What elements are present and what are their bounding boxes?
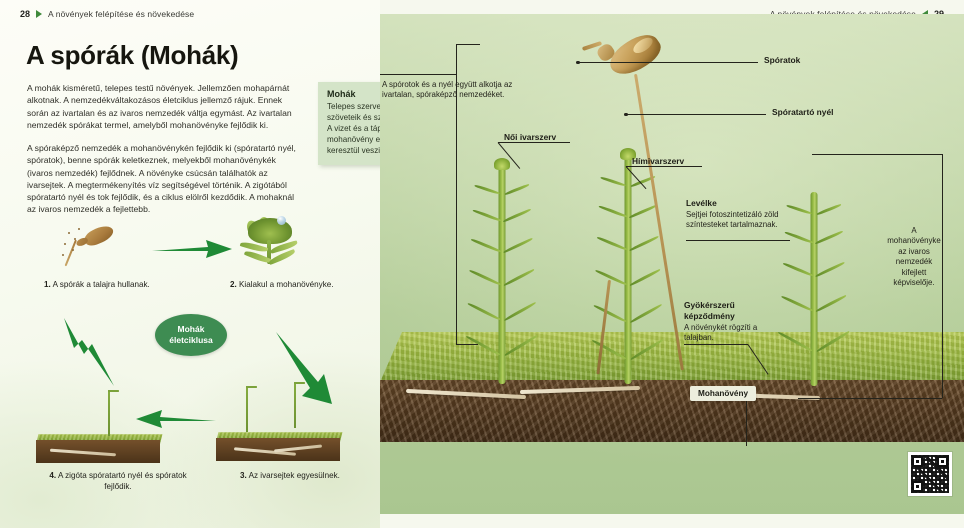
stem-shape — [499, 166, 506, 384]
lifecycle-caption-4: 4. A zigóta spóratartó nyél és spóratok … — [38, 470, 198, 492]
running-head-left: A növények felépítése és növekedése — [48, 9, 194, 19]
lifecycle-caption-3: 3. Az ivarsejtek egyesülnek. — [240, 470, 340, 481]
leaf-shape — [816, 204, 841, 216]
leader-dot — [624, 113, 628, 117]
callout-gyokerszeru-body: A növénykét rögzíti a talajban. — [684, 323, 780, 343]
moss-plant-sporophyte-bearing — [784, 190, 844, 386]
lifecycle-arrow-3-to-4 — [136, 408, 218, 430]
right-bracket-top — [812, 154, 942, 155]
moss-plant-shape — [108, 390, 110, 436]
page-title: A spórák (Mohák) — [26, 40, 238, 71]
leaf-shape — [473, 208, 502, 222]
leaf-shape — [503, 269, 535, 287]
seta-stalk-shape — [634, 74, 684, 371]
lifecycle-arrow-4-to-1 — [62, 316, 118, 392]
badge-line-2: életciklusa — [169, 335, 212, 346]
body-paragraph-2: A spóraképző nemzedék a mohanövénykén fe… — [27, 142, 299, 216]
leaf-shape — [471, 238, 501, 254]
lifecycle-caption-2-text: Kialakul a mohanövényke. — [239, 280, 334, 289]
water-droplet-shape — [277, 216, 286, 225]
leader-line — [456, 344, 478, 345]
leaf-shape — [781, 295, 813, 313]
qr-finder-top-left — [912, 456, 923, 467]
leader-line-seta — [626, 114, 766, 115]
callout-noi-ivarszerv: Női ivarszerv — [504, 132, 556, 142]
lifecycle-center-badge: Mohák életciklusa — [155, 314, 227, 356]
lifecycle-caption-3-number: 3. — [240, 471, 247, 480]
leaf-shape — [785, 230, 814, 244]
lifecycle-stage-3-illustration — [216, 428, 340, 464]
lifecycle-stage-2-illustration — [236, 218, 316, 274]
qr-finder-top-right — [937, 456, 948, 467]
lifecycle-caption-2-number: 2. — [230, 280, 237, 289]
callout-right-note: A mohanövényke az ivaros nemzedék kifejl… — [885, 226, 943, 288]
moss-plant-shape — [246, 386, 248, 432]
lifecycle-caption-4-text: A zigóta spóratartó nyél és spóratok fej… — [58, 471, 187, 491]
lifecycle-stage-1-illustration — [52, 226, 142, 274]
leaf-shape — [503, 208, 532, 222]
leader-line-levelke — [686, 240, 790, 241]
moss-plant-shape — [294, 382, 296, 428]
ground-block — [380, 332, 964, 468]
right-bracket-bottom — [798, 398, 942, 399]
textbook-spread: 28 A növények felépítése és növekedése A… — [0, 0, 964, 528]
spore-dot — [64, 243, 66, 245]
main-illustration: A spórotok és a nyél együtt alkotja az i… — [380, 14, 964, 514]
callout-sporatok: Spóratok — [764, 55, 800, 65]
callout-levelke-title: Levélke — [686, 198, 717, 208]
leaf-shape — [474, 184, 499, 196]
spore-capsule-shape — [82, 223, 116, 249]
callout-sporatarto-nyel: Spóratartó nyél — [772, 107, 833, 117]
spore-dot — [68, 232, 70, 234]
leaf-shape — [469, 269, 501, 287]
callout-gyokerszeru-title-1: Gyökérszerű — [684, 300, 735, 310]
lifecycle-caption-1: 1. A spórák a talajra hullanak. — [44, 279, 150, 290]
leader-line-mohanoveny — [746, 398, 747, 446]
archegonium-shape — [494, 158, 510, 170]
seta-shape — [65, 240, 77, 267]
page-number-left: 28 — [20, 9, 30, 19]
lifecycle-caption-1-number: 1. — [44, 280, 51, 289]
leader-dot — [576, 61, 580, 65]
callout-gyokerszeru-title-2: képződmény — [684, 311, 735, 321]
triangle-right-icon — [36, 10, 42, 18]
callout-mohanoveny-tag: Mohanövény — [690, 386, 756, 401]
qr-finder-bottom-left — [912, 481, 923, 492]
leader-line — [380, 74, 457, 75]
leaf-shape — [815, 230, 844, 244]
callout-sporangium-note: A spórotok és a nyél együtt alkotja az i… — [382, 80, 542, 100]
lifecycle-arrow-1-to-2 — [152, 238, 234, 260]
stem-shape — [811, 192, 818, 386]
spore-dot — [78, 228, 80, 230]
leaf-shape — [503, 238, 533, 254]
leader-line-rhizoid — [684, 344, 748, 345]
lifecycle-caption-1-text: A spórák a talajra hullanak. — [53, 280, 150, 289]
leaf-shape — [783, 262, 813, 278]
header-left: 28 A növények felépítése és növekedése — [20, 9, 194, 19]
body-paragraph-1: A mohák kisméretű, telepes testű növénye… — [27, 82, 299, 131]
callout-levelke-body: Sejtjei fotoszintetizáló zöld színtestek… — [686, 210, 782, 230]
leaf-shape — [467, 302, 500, 322]
leaf-shape — [786, 204, 811, 216]
lifecycle-caption-3-text: Az ivarsejtek egyesülnek. — [249, 471, 340, 480]
soil-cross-section — [380, 380, 964, 442]
leaf-shape — [815, 262, 845, 278]
lifecycle-caption-4-number: 4. — [49, 471, 56, 480]
lifecycle-stage-4-illustration — [36, 430, 160, 466]
moss-plant-female — [472, 164, 532, 384]
leader-line-antheridium — [626, 166, 702, 167]
spore-dot — [62, 254, 64, 256]
leaf-shape — [503, 302, 536, 322]
leaf-shape — [815, 295, 847, 313]
lifecycle-arrow-2-to-3 — [274, 330, 340, 408]
leaf-shape — [504, 184, 529, 196]
leader-line-sporatok — [578, 62, 758, 63]
qr-code-icon[interactable] — [908, 452, 952, 496]
lifecycle-caption-2: 2. Kialakul a mohanövényke. — [230, 279, 334, 290]
leader-line — [456, 44, 480, 45]
badge-line-1: Mohák — [178, 324, 205, 335]
callout-himivarszerv: Hímivarszerv — [632, 156, 684, 166]
leader-line-archegonium — [498, 142, 570, 143]
